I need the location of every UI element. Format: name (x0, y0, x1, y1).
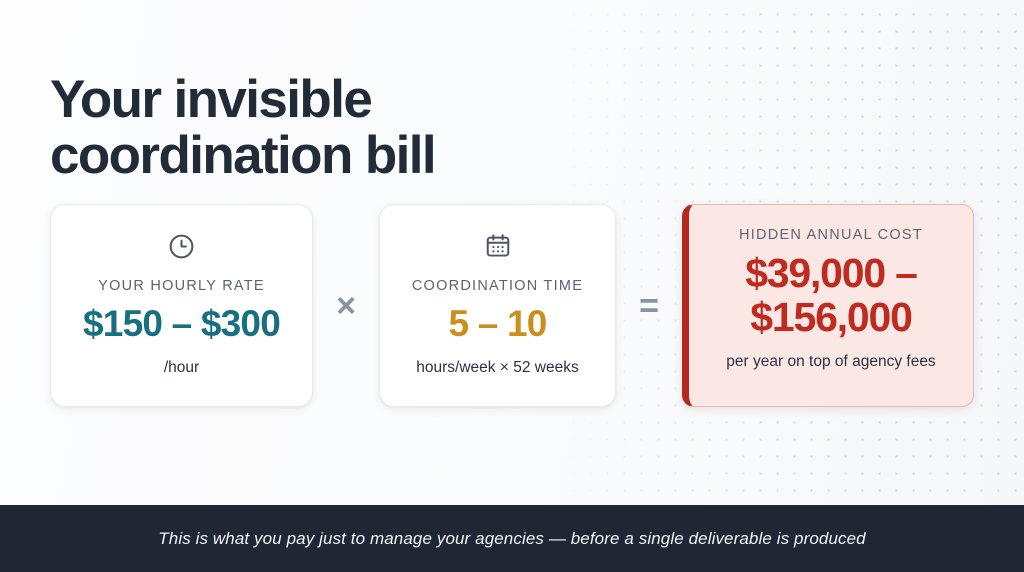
page-title-line-2: coordination bill (50, 128, 670, 184)
result-sub: per year on top of agency fees (726, 353, 935, 371)
card-hourly-rate: YOUR HOURLY RATE $150 – $300 /hour (50, 204, 313, 407)
card-label-hourly-rate: YOUR HOURLY RATE (98, 278, 265, 294)
page-title-line-1: Your invisible (50, 72, 670, 128)
slide-canvas: Your invisible coordination bill YOUR HO… (0, 0, 1024, 572)
result-value: $39,000 – $156,000 (745, 252, 917, 340)
result-value-line-2: $156,000 (745, 296, 917, 340)
footer-bar: This is what you pay just to manage your… (0, 505, 1024, 572)
card-sub-hourly-rate: /hour (164, 359, 199, 377)
result-label: HIDDEN ANNUAL COST (739, 227, 923, 243)
equation-row: YOUR HOURLY RATE $150 – $300 /hour × (50, 203, 974, 408)
card-coordination-time: COORDINATION TIME 5 – 10 hours/week × 52… (379, 204, 616, 407)
footer-caption: This is what you pay just to manage your… (158, 529, 865, 549)
card-label-coordination-time: COORDINATION TIME (412, 278, 583, 294)
calendar-icon (484, 231, 512, 261)
result-value-line-1: $39,000 – (745, 252, 917, 296)
page-title: Your invisible coordination bill (50, 72, 670, 184)
clock-icon (167, 231, 196, 261)
operator-equals: = (616, 289, 682, 323)
card-value-hourly-rate: $150 – $300 (83, 305, 280, 342)
card-hidden-annual-cost: HIDDEN ANNUAL COST $39,000 – $156,000 pe… (682, 204, 974, 407)
card-value-coordination-time: 5 – 10 (448, 305, 546, 342)
card-sub-coordination-time: hours/week × 52 weeks (416, 359, 578, 377)
operator-multiply: × (313, 289, 379, 323)
